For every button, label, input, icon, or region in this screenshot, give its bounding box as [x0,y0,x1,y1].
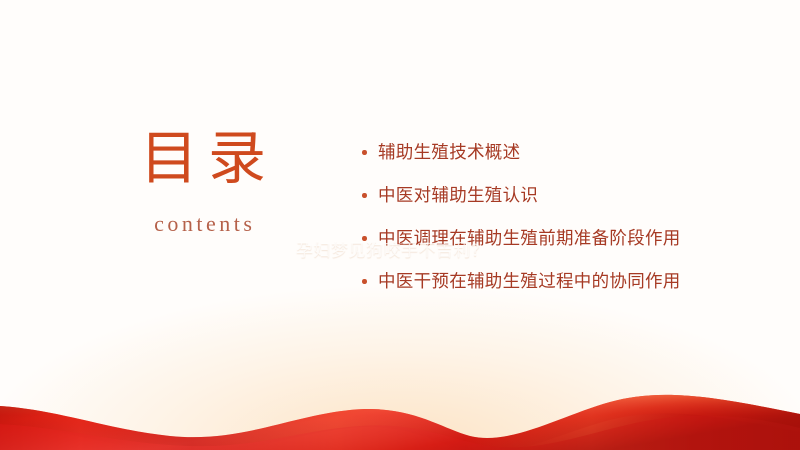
list-item-label: 中医对辅助生殖认识 [378,186,538,206]
decorative-red-wave [0,380,800,450]
page-subtitle: contents [58,211,348,237]
list-item[interactable]: 中医干预在辅助生殖过程中的协同作用 [360,267,720,298]
list-item[interactable]: 中医调理在辅助生殖前期准备阶段作用 [360,224,720,255]
list-item-label: 辅助生殖技术概述 [378,143,520,163]
page-title: 目录 [58,128,348,189]
list-item-label: 中医干预在辅助生殖过程中的协同作用 [378,272,681,292]
wave-shading [0,395,800,450]
bullet-dot-icon [362,279,367,284]
bullet-dot-icon [362,193,367,198]
table-of-contents: 辅助生殖技术概述 中医对辅助生殖认识 中医调理在辅助生殖前期准备阶段作用 中医干… [360,138,720,311]
list-item-label: 中医调理在辅助生殖前期准备阶段作用 [378,229,681,249]
list-item[interactable]: 辅助生殖技术概述 [360,138,720,169]
bullet-dot-icon [362,150,367,155]
slide-canvas: 目录 contents 辅助生殖技术概述 中医对辅助生殖认识 中医调理在辅助生殖… [0,0,800,450]
title-block: 目录 contents [58,128,348,237]
bullet-dot-icon [362,236,367,241]
list-item[interactable]: 中医对辅助生殖认识 [360,181,720,212]
